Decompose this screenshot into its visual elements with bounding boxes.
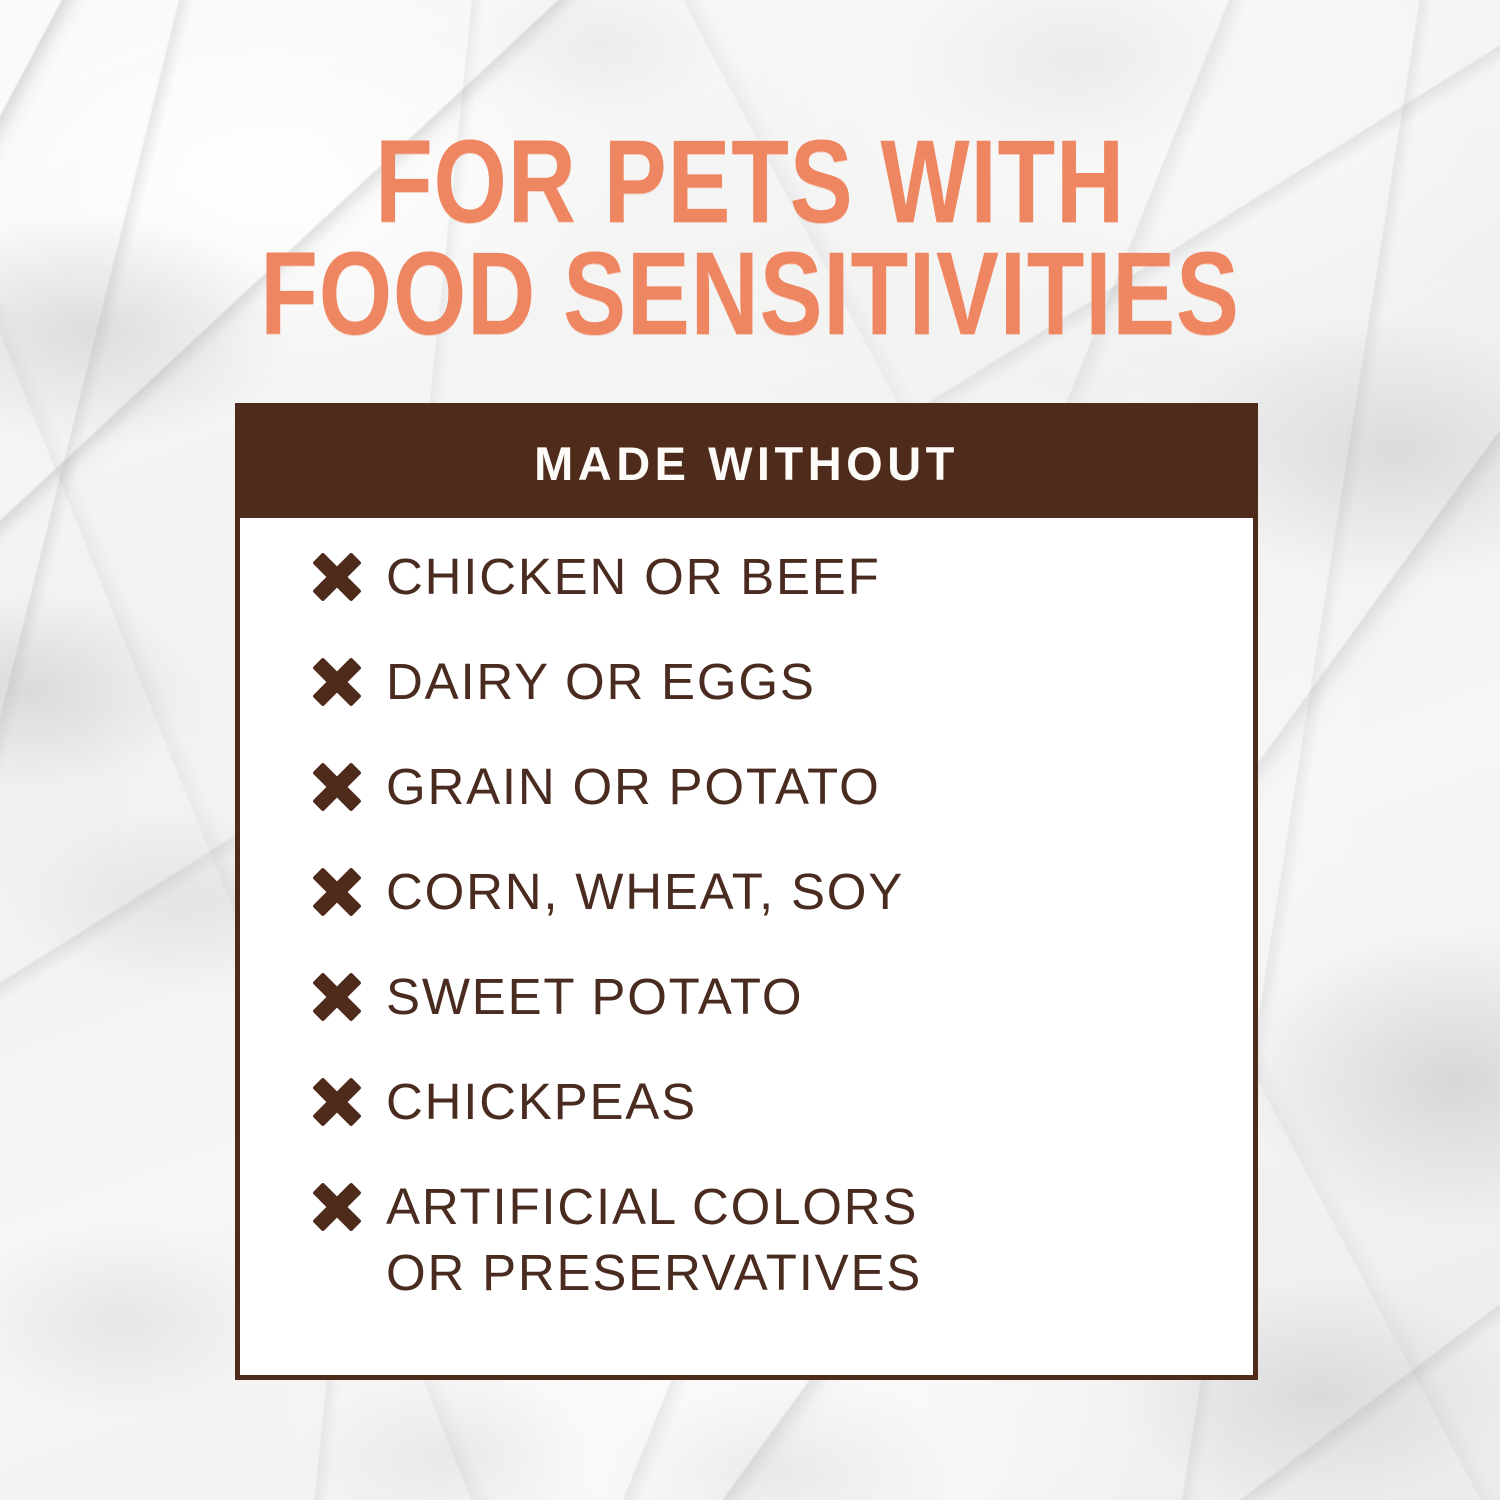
x-mark-icon (312, 867, 362, 917)
list-item: DAIRY OR EGGS (312, 649, 1253, 754)
x-mark-icon (312, 657, 362, 707)
made-without-card: MADE WITHOUT CHICKEN OR BEEF DAIRY OR EG… (235, 403, 1258, 1380)
poster-canvas: FOR PETS WITH FOOD SENSITIVITIES MADE WI… (0, 0, 1500, 1500)
card-body: CHICKEN OR BEEF DAIRY OR EGGS GRAIN OR P… (240, 518, 1253, 1375)
list-item: CORN, WHEAT, SOY (312, 859, 1253, 964)
list-item-label: DAIRY OR EGGS (386, 649, 816, 715)
list-item: GRAIN OR POTATO (312, 754, 1253, 859)
x-mark-icon (312, 552, 362, 602)
list-item-label: CHICKEN OR BEEF (386, 544, 881, 610)
x-mark-icon (312, 1182, 362, 1232)
list-item-label: ARTIFICIAL COLORS OR PRESERVATIVES (386, 1174, 922, 1306)
x-mark-icon (312, 1077, 362, 1127)
list-item-label: CORN, WHEAT, SOY (386, 859, 904, 925)
list-item: ARTIFICIAL COLORS OR PRESERVATIVES (312, 1174, 1253, 1324)
list-item-label: GRAIN OR POTATO (386, 754, 881, 820)
excluded-ingredients-list: CHICKEN OR BEEF DAIRY OR EGGS GRAIN OR P… (312, 544, 1253, 1324)
list-item: CHICKPEAS (312, 1069, 1253, 1174)
list-item: SWEET POTATO (312, 964, 1253, 1069)
card-header: MADE WITHOUT (240, 408, 1253, 518)
list-item-label: CHICKPEAS (386, 1069, 697, 1135)
card-header-title: MADE WITHOUT (534, 436, 959, 491)
x-mark-icon (312, 972, 362, 1022)
list-item: CHICKEN OR BEEF (312, 544, 1253, 649)
list-item-label: SWEET POTATO (386, 964, 803, 1030)
page-title: FOR PETS WITH FOOD SENSITIVITIES (150, 126, 1350, 350)
x-mark-icon (312, 762, 362, 812)
